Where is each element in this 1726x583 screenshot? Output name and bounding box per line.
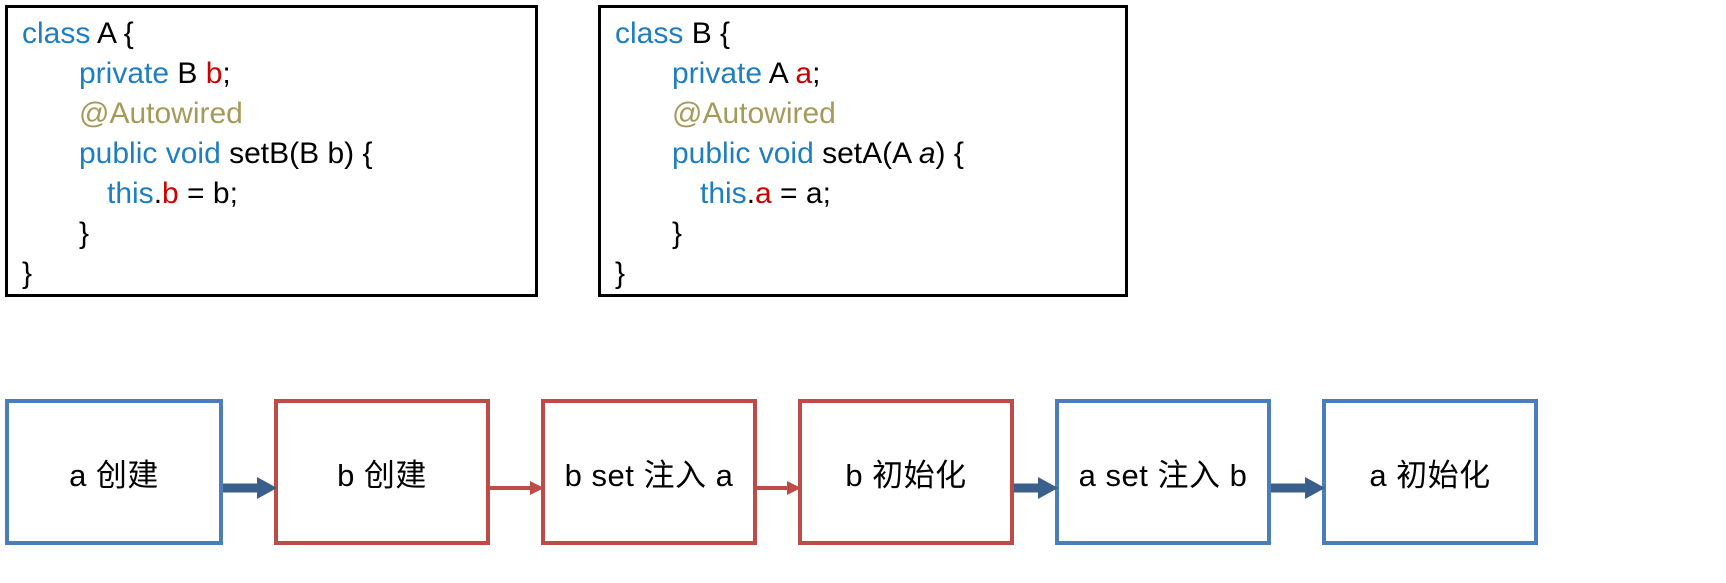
bean-lifecycle-flow: a 创建b 创建b set 注入 ab 初始化a set 注入 ba 初始化 (0, 395, 1726, 583)
code-line: @Autowired (615, 94, 1125, 134)
code-line: @Autowired (22, 94, 535, 134)
code-token: } (615, 257, 625, 290)
code-token: @Autowired (79, 97, 243, 130)
flow-step-label: b set 注入 a (565, 450, 734, 495)
code-token: B (169, 57, 206, 90)
code-line: } (615, 214, 1125, 254)
flow-arrow-icon (757, 475, 801, 501)
code-line: this.b = b; (22, 174, 535, 214)
code-line: private A a; (615, 54, 1125, 94)
code-token: a (919, 137, 936, 170)
flow-step-label: a 初始化 (1369, 450, 1490, 495)
flow-step-label: b 创建 (337, 450, 427, 495)
code-token: private (79, 57, 169, 90)
code-token: A { (90, 17, 133, 50)
flow-step-label: a 创建 (69, 450, 159, 495)
flow-step-box[interactable]: b set 注入 a (541, 399, 757, 545)
code-token: B { (683, 17, 730, 50)
code-token: = a; (772, 177, 831, 210)
code-token: public void (79, 137, 221, 170)
code-block-class-a: class A {private B b;@Autowiredpublic vo… (5, 5, 538, 297)
flow-arrow-icon (223, 475, 277, 501)
code-token: } (672, 217, 682, 250)
code-token: this (700, 177, 747, 210)
code-token: a (795, 57, 812, 90)
code-token: public void (672, 137, 814, 170)
code-line: } (22, 214, 535, 254)
code-token: . (154, 177, 162, 210)
code-token: ; (222, 57, 230, 90)
code-line: class A { (22, 14, 535, 54)
code-line: this.a = a; (615, 174, 1125, 214)
code-token: A (762, 57, 795, 90)
code-token: setB(B b) { (221, 137, 373, 170)
code-token: this (107, 177, 154, 210)
code-token: private (672, 57, 762, 90)
code-token: b (162, 177, 179, 210)
code-token: a (755, 177, 772, 210)
flow-step-box[interactable]: a set 注入 b (1055, 399, 1271, 545)
code-line: public void setA(A a) { (615, 134, 1125, 174)
flow-arrow-icon (1014, 475, 1058, 501)
code-token: b (206, 57, 223, 90)
code-token: = b; (179, 177, 238, 210)
flow-arrow-icon (490, 475, 544, 501)
code-line: } (22, 254, 535, 294)
flow-step-label: b 初始化 (845, 450, 966, 495)
code-line: public void setB(B b) { (22, 134, 535, 174)
code-token: } (79, 217, 89, 250)
code-token: ) { (936, 137, 964, 170)
code-line: private B b; (22, 54, 535, 94)
code-token: . (747, 177, 755, 210)
flow-step-box[interactable]: a 初始化 (1322, 399, 1538, 545)
flow-step-label: a set 注入 b (1079, 450, 1248, 495)
code-token: @Autowired (672, 97, 836, 130)
code-line: } (615, 254, 1125, 294)
flow-step-box[interactable]: b 创建 (274, 399, 490, 545)
code-token: class (22, 17, 90, 50)
code-block-class-b: class B {private A a;@Autowiredpublic vo… (598, 5, 1128, 297)
flow-step-box[interactable]: b 初始化 (798, 399, 1014, 545)
code-token: } (22, 257, 32, 290)
code-token: class (615, 17, 683, 50)
code-line: class B { (615, 14, 1125, 54)
code-token: setA(A (814, 137, 919, 170)
code-token: ; (812, 57, 820, 90)
flow-step-box[interactable]: a 创建 (5, 399, 223, 545)
flow-arrow-icon (1271, 475, 1325, 501)
